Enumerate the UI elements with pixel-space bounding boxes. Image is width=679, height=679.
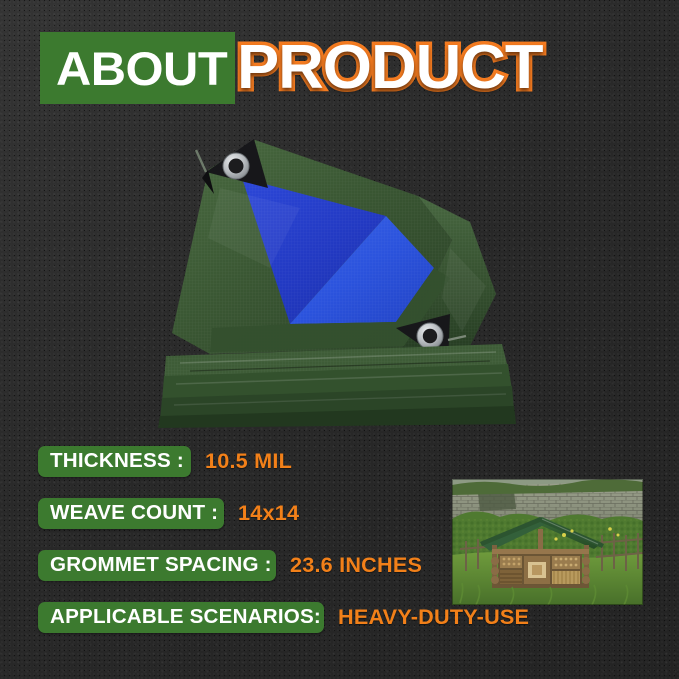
title-word-product: PRODUCT <box>237 37 543 99</box>
spec-label-applicable-scenarios: APPLICABLE SCENARIOS: <box>50 607 321 627</box>
tarp-folded-stack <box>158 344 516 428</box>
spec-value-grommet-spacing: 23.6 INCHES <box>290 555 422 576</box>
title-word-about-block: ABOUT <box>40 32 235 104</box>
spec-label-pill-applicable-scenarios: APPLICABLE SCENARIOS: <box>38 602 324 633</box>
title-word-about: ABOUT <box>56 45 227 92</box>
spec-label-pill-weave-count: WEAVE COUNT : <box>38 498 224 529</box>
spec-label-weave-count: WEAVE COUNT : <box>50 503 218 523</box>
product-image-tarp <box>150 118 540 428</box>
spec-row-thickness: THICKNESS : 10.5 MIL <box>38 444 638 478</box>
title-word-product-block: PRODUCT <box>233 32 539 104</box>
spec-row-applicable-scenarios: APPLICABLE SCENARIOS: HEAVY-DUTY-USE <box>38 600 638 634</box>
spec-label-grommet-spacing: GROMMET SPACING : <box>50 555 272 575</box>
spec-value-applicable-scenarios: HEAVY-DUTY-USE <box>338 607 529 628</box>
spec-label-pill-grommet-spacing: GROMMET SPACING : <box>38 550 276 581</box>
about-product-infographic: ABOUT PRODUCT <box>0 0 679 679</box>
tarp-illustration <box>150 118 540 428</box>
spec-value-weave-count: 14x14 <box>238 503 299 524</box>
spec-label-pill-thickness: THICKNESS : <box>38 446 191 477</box>
usage-scenario-photo <box>452 479 643 605</box>
page-title: ABOUT PRODUCT <box>40 32 538 104</box>
insect-hotel-illustration <box>452 479 643 605</box>
spec-value-thickness: 10.5 MIL <box>205 451 292 472</box>
spec-label-thickness: THICKNESS : <box>50 451 184 471</box>
